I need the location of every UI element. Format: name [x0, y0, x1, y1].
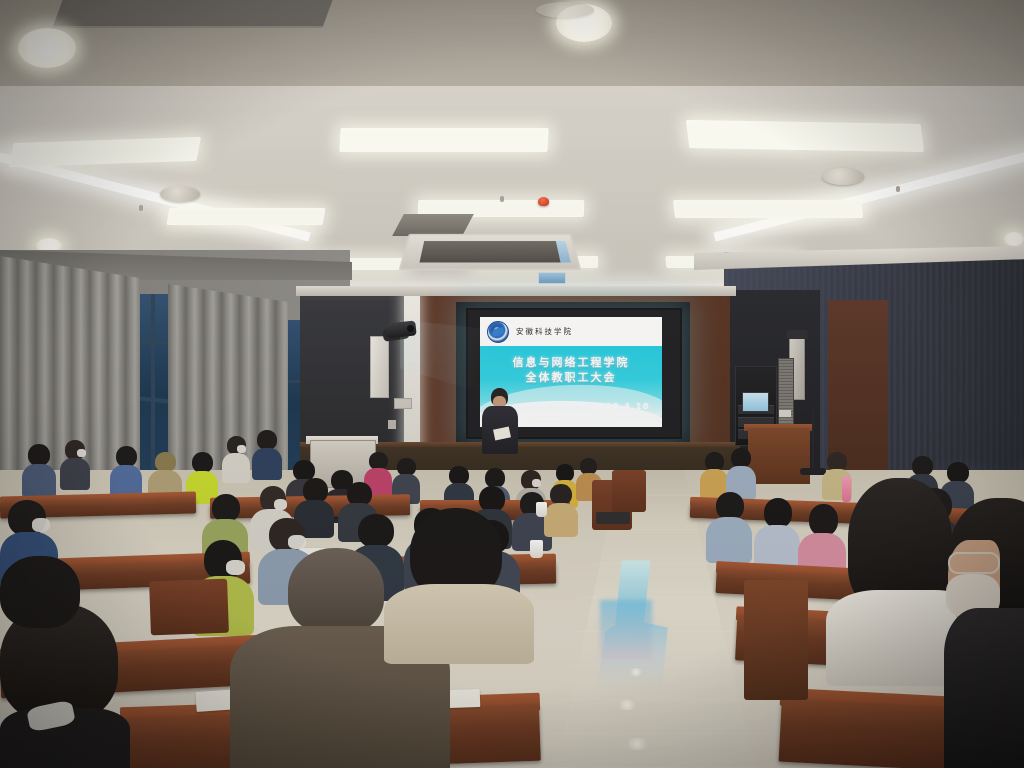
speaker-mount-bracket: [786, 330, 808, 339]
ceiling-light-panel: [673, 200, 863, 218]
ceiling-vent-small: [538, 272, 566, 284]
slide-header: 安徽科技学院: [480, 317, 662, 346]
presenter: [480, 388, 520, 454]
audience-member: [706, 492, 752, 560]
slide-title-line-1: 信息与网络工程学院: [480, 355, 662, 370]
slide-institution-name: 安徽科技学院: [516, 326, 573, 337]
ceiling-downlight: [18, 28, 76, 68]
sprinkler-head: [500, 196, 504, 202]
sprinkler-head: [139, 205, 143, 211]
microphone-stand: [812, 410, 814, 472]
university-seal-logo: [487, 321, 509, 343]
audience-member-foreground: [384, 508, 534, 648]
sprinkler-head: [896, 186, 900, 192]
paper-cup: [536, 502, 547, 517]
audience-member: [22, 444, 56, 496]
smoke-alarm: [538, 197, 549, 206]
wall-grille-plate: [779, 410, 791, 417]
wooden-podium[interactable]: [748, 428, 810, 484]
floor-light-reflection: [616, 700, 638, 710]
slide-title: 信息与网络工程学院 全体教职工大会: [480, 355, 662, 385]
audience-member: [726, 448, 756, 498]
torso: [944, 608, 1024, 768]
head: [288, 548, 384, 634]
chair[interactable]: [744, 580, 808, 700]
floor-light-reflection: [624, 738, 650, 750]
conference-hall-photo: 安徽科技学院 信息与网络工程学院 全体教职工大会 2020.4.10: [0, 0, 1024, 768]
audience-member: [754, 498, 800, 568]
floor-light-reflection: [628, 668, 644, 676]
audience-member: [252, 430, 282, 478]
ceiling-light-panel: [339, 128, 548, 152]
rack-monitor: [742, 392, 769, 412]
torso: [384, 584, 534, 664]
floor-projection-reflection: [600, 600, 652, 660]
audience-member-foreground: [0, 556, 86, 652]
audience-member: [60, 440, 90, 488]
air-duct: [392, 214, 474, 236]
wall-outlet-plate: [388, 420, 396, 429]
ceiling-speaker: [160, 186, 200, 202]
chair[interactable]: [612, 470, 646, 512]
air-vent-grille: [419, 241, 560, 262]
ceiling-speaker: [822, 168, 864, 185]
wall-speaker-left: [370, 336, 389, 398]
ceiling-speaker: [536, 2, 594, 18]
eyeglasses-icon: [948, 552, 1000, 574]
audience-member: [222, 436, 250, 482]
head: [0, 556, 80, 628]
ceiling-light-panel: [167, 208, 326, 225]
ceiling-projector: [385, 320, 416, 338]
wall-outlet-plate: [394, 398, 412, 409]
ceiling-recessed-tray: [52, 0, 337, 28]
audience-member: [110, 446, 142, 496]
projector-lens-icon: [407, 325, 415, 333]
central-air-vent: [399, 234, 582, 270]
chair[interactable]: [149, 579, 229, 636]
chair-seat: [596, 512, 630, 524]
audience-member: [544, 484, 578, 534]
audience-member-foreground: [944, 498, 1024, 768]
ceiling-downlight: [1004, 232, 1024, 246]
slide-title-line-2: 全体教职工大会: [480, 370, 662, 385]
front-wall-crown-moulding: [296, 286, 736, 296]
ceiling-light-panel: [686, 120, 924, 152]
slide-date: 2020.4.10: [591, 402, 650, 411]
